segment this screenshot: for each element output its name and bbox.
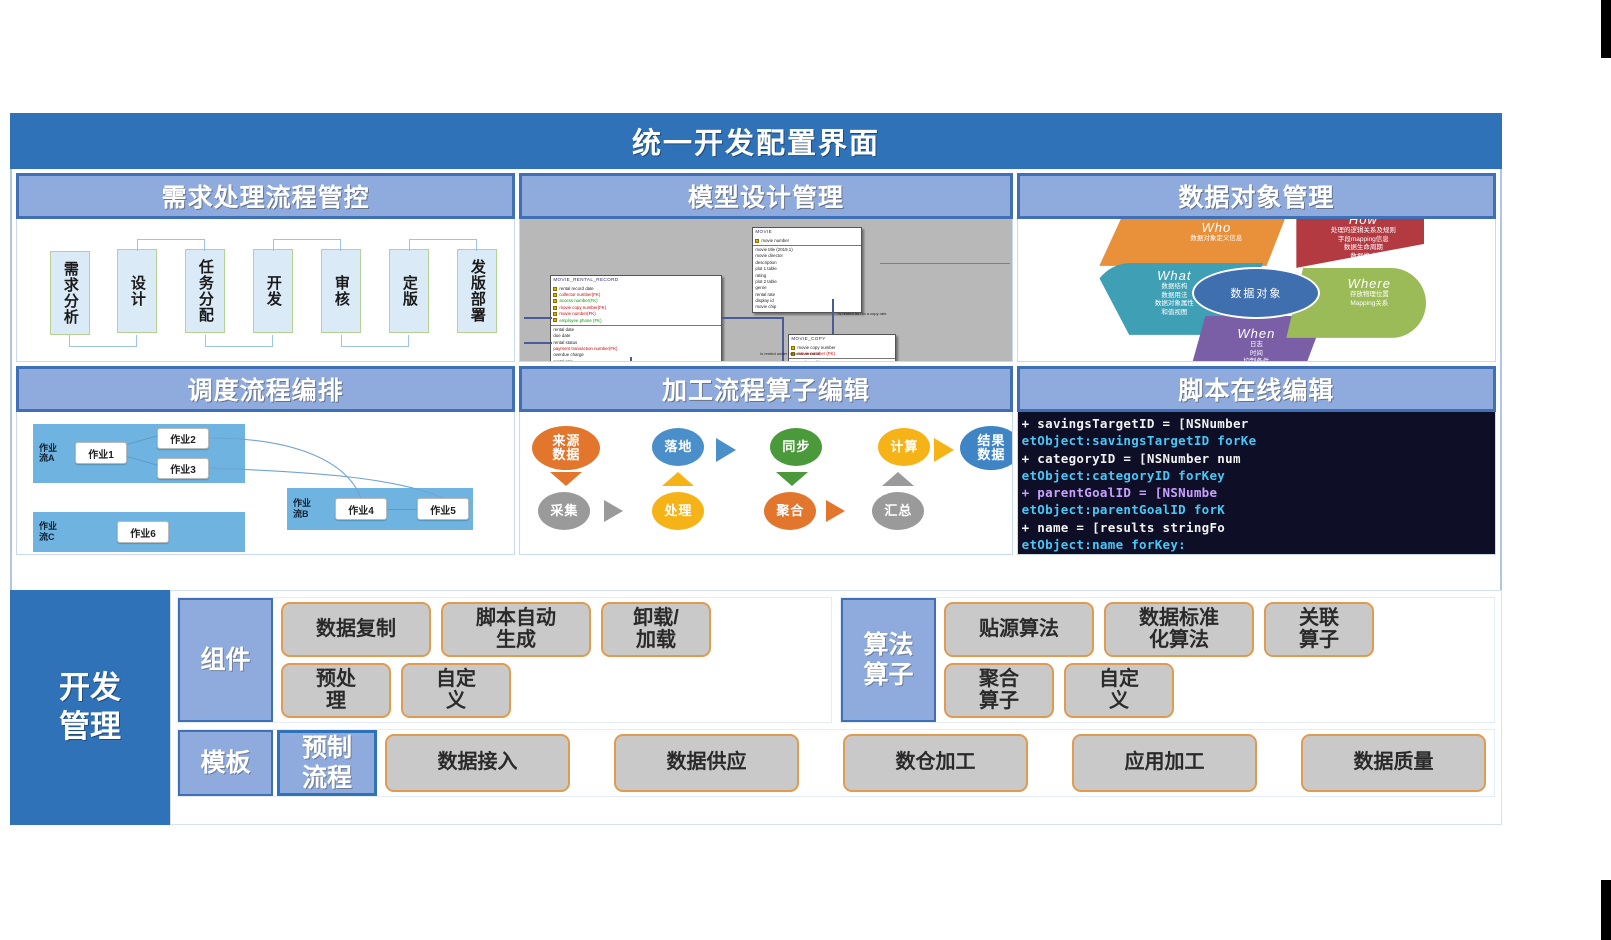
arrow-up-grey (882, 472, 914, 486)
panel-title-dataobject: 数据对象管理 (1017, 173, 1496, 219)
job-flow-a[interactable]: 作业 流A (33, 424, 245, 483)
erd-table-title: MOVIE (753, 228, 861, 237)
erd-relation-note: is rented as / to a copy rate (838, 311, 886, 316)
flow-step-5[interactable]: 定版 (389, 249, 429, 333)
operator-landing[interactable]: 落地 (652, 428, 704, 466)
erd-field: movie number(FK) (559, 311, 595, 316)
edge-bar-bottom (1601, 880, 1611, 940)
flow-connector-top-3 (409, 239, 477, 251)
pill-unload-load[interactable]: 卸载/ 加载 (601, 602, 711, 657)
erd-relation-pink (880, 263, 1010, 264)
operator-compute[interactable]: 计算 (878, 428, 930, 466)
arrow-up-yellow (662, 472, 694, 486)
job-node-6[interactable]: 作业6 (117, 521, 169, 543)
category-components[interactable]: 组件 (178, 598, 273, 722)
code-editor[interactable]: + savingsTargetID = [NSNumber etObject:s… (1018, 412, 1495, 554)
erd-key-fields: rental record date collector number(FK) … (551, 285, 721, 326)
pill-aggregate-operator[interactable]: 聚合 算子 (944, 663, 1054, 718)
panel-title-scheduling: 调度流程编排 (16, 366, 515, 412)
dataobject-chart: Who 数据对象定义信息 What 数据结构 数据用法 数据对象属性 (1018, 219, 1495, 361)
flow-step-4[interactable]: 审核 (321, 249, 361, 333)
dev-block-templates: 模板 预制 流程 数据接入 数据供应 数仓加工 应用加工 数据质量 (177, 729, 1495, 797)
erd-field: movie chip (755, 304, 859, 310)
panel-scheduling[interactable]: 调度流程编排 作业 流A 作业1 作业2 作业3 (16, 366, 515, 555)
scheduling-canvas: 作业 流A 作业1 作业2 作业3 作业 流B 作业4 作业5 (17, 412, 514, 554)
pill-script-auto-generate[interactable]: 脚本自动 生成 (441, 602, 591, 657)
panel-body-scheduling: 作业 流A 作业1 作业2 作业3 作业 流B 作业4 作业5 (16, 412, 515, 555)
components-pill-area: 数据复制 脚本自动 生成 卸载/ 加载 预处 理 自定 义 (273, 598, 831, 722)
panel-requirement-process[interactable]: 需求处理流程管控 需求分析 设计 任务分配 开发 审核 定版 发版部署 (16, 173, 515, 362)
erd-table-rental-record[interactable]: MOVIE_RENTAL_RECORD rental record date c… (550, 275, 722, 362)
flow-step-1[interactable]: 设计 (117, 249, 157, 333)
panel-body-script: + savingsTargetID = [NSNumber etObject:s… (1017, 412, 1496, 555)
erd-normal-fields: general condition movie format (789, 359, 895, 362)
panel-body-requirement: 需求分析 设计 任务分配 开发 审核 定版 发版部署 (16, 219, 515, 362)
edge-4-5 (387, 509, 417, 510)
erd-field: employee phone (FK) (559, 318, 601, 323)
category-preset-flow[interactable]: 预制 流程 (277, 730, 377, 796)
flow-step-3[interactable]: 开发 (253, 249, 293, 333)
code-line: + name = [results stringFo (1022, 519, 1495, 536)
templates-pill-area: 数据接入 数据供应 数仓加工 应用加工 数据质量 (377, 730, 1494, 796)
panel-title-script: 脚本在线编辑 (1017, 366, 1496, 412)
erd-normal-fields: rental date due date rental status payme… (551, 326, 721, 362)
pill-data-quality[interactable]: 数据质量 (1301, 734, 1486, 792)
erd-field: movie copy number (797, 345, 835, 350)
erd-table-title: MOVIE_RENTAL_RECORD (551, 276, 721, 285)
category-algorithm-operators[interactable]: 算法 算子 (841, 598, 936, 722)
job-node-5[interactable]: 作业5 (417, 498, 469, 520)
erd-field: general condition (791, 360, 893, 362)
donut-center-label: 数据对象 (1192, 267, 1320, 319)
erd-field: movie number (761, 238, 789, 243)
pill-warehouse-processing[interactable]: 数仓加工 (843, 734, 1028, 792)
panel-title-requirement: 需求处理流程管控 (16, 173, 515, 219)
pill-standardization-algorithm[interactable]: 数据标准 化算法 (1104, 602, 1254, 657)
pill-application-processing[interactable]: 应用加工 (1072, 734, 1257, 792)
flow-connector-top-1 (137, 239, 205, 251)
erd-field: movie copy number(FK) (559, 305, 606, 310)
operator-collect[interactable]: 采集 (538, 492, 590, 530)
arrow-down-orange (550, 472, 582, 486)
pill-source-algorithm[interactable]: 贴源算法 (944, 602, 1094, 657)
job-flow-a-label: 作业 流A (39, 443, 65, 465)
erd-canvas: MOVIE_RENTAL_RECORD rental record date c… (520, 219, 1011, 361)
flow-step-6[interactable]: 发版部署 (457, 249, 497, 333)
pill-join-operator[interactable]: 关联 算子 (1264, 602, 1374, 657)
algorithms-pill-area: 贴源算法 数据标准 化算法 关联 算子 聚合 算子 自定 义 (936, 598, 1494, 722)
code-line: + color = [results stringFo (1022, 553, 1495, 554)
flow-connector-top-2 (273, 239, 341, 251)
code-line: + savingsTargetID = [NSNumber (1022, 415, 1495, 432)
erd-field: rental record date (559, 286, 593, 291)
pill-custom-operator[interactable]: 自定 义 (1064, 663, 1174, 718)
arrow-right-blue (716, 438, 736, 462)
erd-normal-fields: movie title (2019.1) movie director desc… (753, 246, 861, 312)
pill-data-ingest[interactable]: 数据接入 (385, 734, 570, 792)
donut-label-how: How 处理的逻辑关系及规则 字段mapping信息 数据生命周期 数据格式 数… (1303, 219, 1423, 271)
donut-label-who: Who 数据对象定义信息 (1151, 220, 1281, 244)
pill-preprocess[interactable]: 预处 理 (281, 663, 391, 718)
erd-relation-note: is rented under / records rental of (760, 351, 819, 356)
panel-body-operators: 来源 数据 落地 同步 计算 结果 数据 采集 处理 聚合 汇总 (519, 412, 1012, 555)
flow-connector-bottom-1 (69, 335, 137, 347)
code-line: etObject:savingsTargetID forKe (1022, 432, 1495, 449)
requirement-flow-area: 需求分析 设计 任务分配 开发 审核 定版 发版部署 (17, 219, 514, 361)
operator-source-data[interactable]: 来源 数据 (532, 426, 600, 470)
code-line: etObject:parentGoalID forK (1022, 501, 1495, 518)
panel-model-design[interactable]: 模型设计管理 MOVIE_RENTAL_RECORD rental record… (519, 173, 1012, 362)
flow-step-2[interactable]: 任务分配 (185, 249, 225, 333)
operator-process[interactable]: 处理 (652, 492, 704, 530)
edge-bar-top (1601, 0, 1611, 58)
job-node-1[interactable]: 作业1 (75, 442, 127, 464)
operator-sync[interactable]: 同步 (770, 428, 822, 466)
erd-field: access number(FK) (559, 298, 597, 303)
code-line: etObject:categoryID forKey (1022, 467, 1495, 484)
erd-connector (630, 357, 632, 362)
donut-label-where: Where 存放物理位置 Mapping关系 (1313, 276, 1425, 309)
erd-connector (722, 317, 784, 319)
dev-management-body: 组件 数据复制 脚本自动 生成 卸载/ 加载 预处 理 自定 义 算法 算子 贴… (170, 590, 1502, 825)
panel-operators[interactable]: 加工流程算子编辑 来源 数据 落地 同步 计算 结果 数据 采集 处理 聚合 汇… (519, 366, 1012, 555)
dev-management-title: 开发 管理 (10, 590, 170, 825)
dev-block-algorithms: 算法 算子 贴源算法 数据标准 化算法 关联 算子 聚合 算子 自定 义 (840, 597, 1495, 723)
pill-custom-component[interactable]: 自定 义 (401, 663, 511, 718)
donut-chart: Who 数据对象定义信息 What 数据结构 数据用法 数据对象属性 (1091, 219, 1421, 362)
erd-connector (524, 317, 552, 319)
panel-script-editor[interactable]: 脚本在线编辑 + savingsTargetID = [NSNumber etO… (1017, 366, 1496, 555)
panel-data-object[interactable]: 数据对象管理 Who 数据对象定义信息 (1017, 173, 1496, 362)
code-line: + categoryID = [NSNumber num (1022, 450, 1495, 467)
erd-field: rental rate (553, 359, 719, 362)
job-node-2[interactable]: 作业2 (157, 428, 209, 449)
job-node-3[interactable]: 作业3 (157, 458, 209, 479)
panels-container: 需求处理流程管控 需求分析 设计 任务分配 开发 审核 定版 发版部署 (10, 169, 1502, 602)
dev-management-section: 开发 管理 组件 数据复制 脚本自动 生成 卸载/ 加载 预处 理 自定 义 算… (10, 590, 1502, 825)
job-node-4[interactable]: 作业4 (335, 498, 387, 520)
flow-connector-bottom-2 (205, 335, 273, 347)
panel-row-top: 需求处理流程管控 需求分析 设计 任务分配 开发 审核 定版 发版部署 (16, 173, 1496, 362)
code-line: etObject:name forKey: (1022, 536, 1495, 553)
arrow-down-green (776, 472, 808, 486)
erd-table-title: MOVIE_COPY (789, 335, 895, 344)
diagram-page: 统一开发配置界面 需求处理流程管控 需求分析 设计 任务分配 开发 审核 定版 (0, 0, 1611, 940)
dev-block-components: 组件 数据复制 脚本自动 生成 卸载/ 加载 预处 理 自定 义 (177, 597, 832, 723)
arrow-right-yellow (934, 438, 954, 462)
arrow-right-grey (604, 500, 623, 522)
operator-summary[interactable]: 汇总 (872, 492, 924, 530)
dev-row-components: 组件 数据复制 脚本自动 生成 卸载/ 加载 预处 理 自定 义 算法 算子 贴… (177, 597, 1495, 723)
erd-field: collector number(FK) (559, 292, 600, 297)
operator-aggregate[interactable]: 聚合 (764, 492, 816, 530)
page-title: 统一开发配置界面 (10, 113, 1502, 169)
erd-connector (524, 342, 552, 344)
operator-result-data[interactable]: 结果 数据 (960, 426, 1012, 470)
pill-data-supply[interactable]: 数据供应 (614, 734, 799, 792)
flow-connector-bottom-3 (341, 335, 409, 347)
job-flow-c-label: 作业 流C (39, 521, 65, 543)
operators-canvas: 来源 数据 落地 同步 计算 结果 数据 采集 处理 聚合 汇总 (520, 412, 1011, 554)
panel-title-operators: 加工流程算子编辑 (519, 366, 1012, 412)
panel-body-model: MOVIE_RENTAL_RECORD rental record date c… (519, 219, 1012, 362)
erd-table-movie[interactable]: MOVIE movie number movie title (2019.1) … (752, 227, 862, 313)
arrow-right-orange (826, 500, 845, 522)
panel-row-bottom: 调度流程编排 作业 流A 作业1 作业2 作业3 (16, 366, 1496, 555)
job-flow-b-label: 作业 流B (293, 498, 319, 520)
pill-data-replication[interactable]: 数据复制 (281, 602, 431, 657)
code-line: + parentGoalID = [NSNumbe (1022, 484, 1495, 501)
erd-connector (832, 299, 834, 334)
panel-body-dataobject: Who 数据对象定义信息 What 数据结构 数据用法 数据对象属性 (1017, 219, 1496, 362)
flow-step-0[interactable]: 需求分析 (50, 251, 90, 335)
category-template[interactable]: 模板 (178, 730, 273, 796)
erd-table-movie-copy[interactable]: MOVIE_COPY movie copy number movie numbe… (788, 334, 896, 362)
erd-key-fields: movie number (753, 237, 861, 246)
panel-title-model: 模型设计管理 (519, 173, 1012, 219)
